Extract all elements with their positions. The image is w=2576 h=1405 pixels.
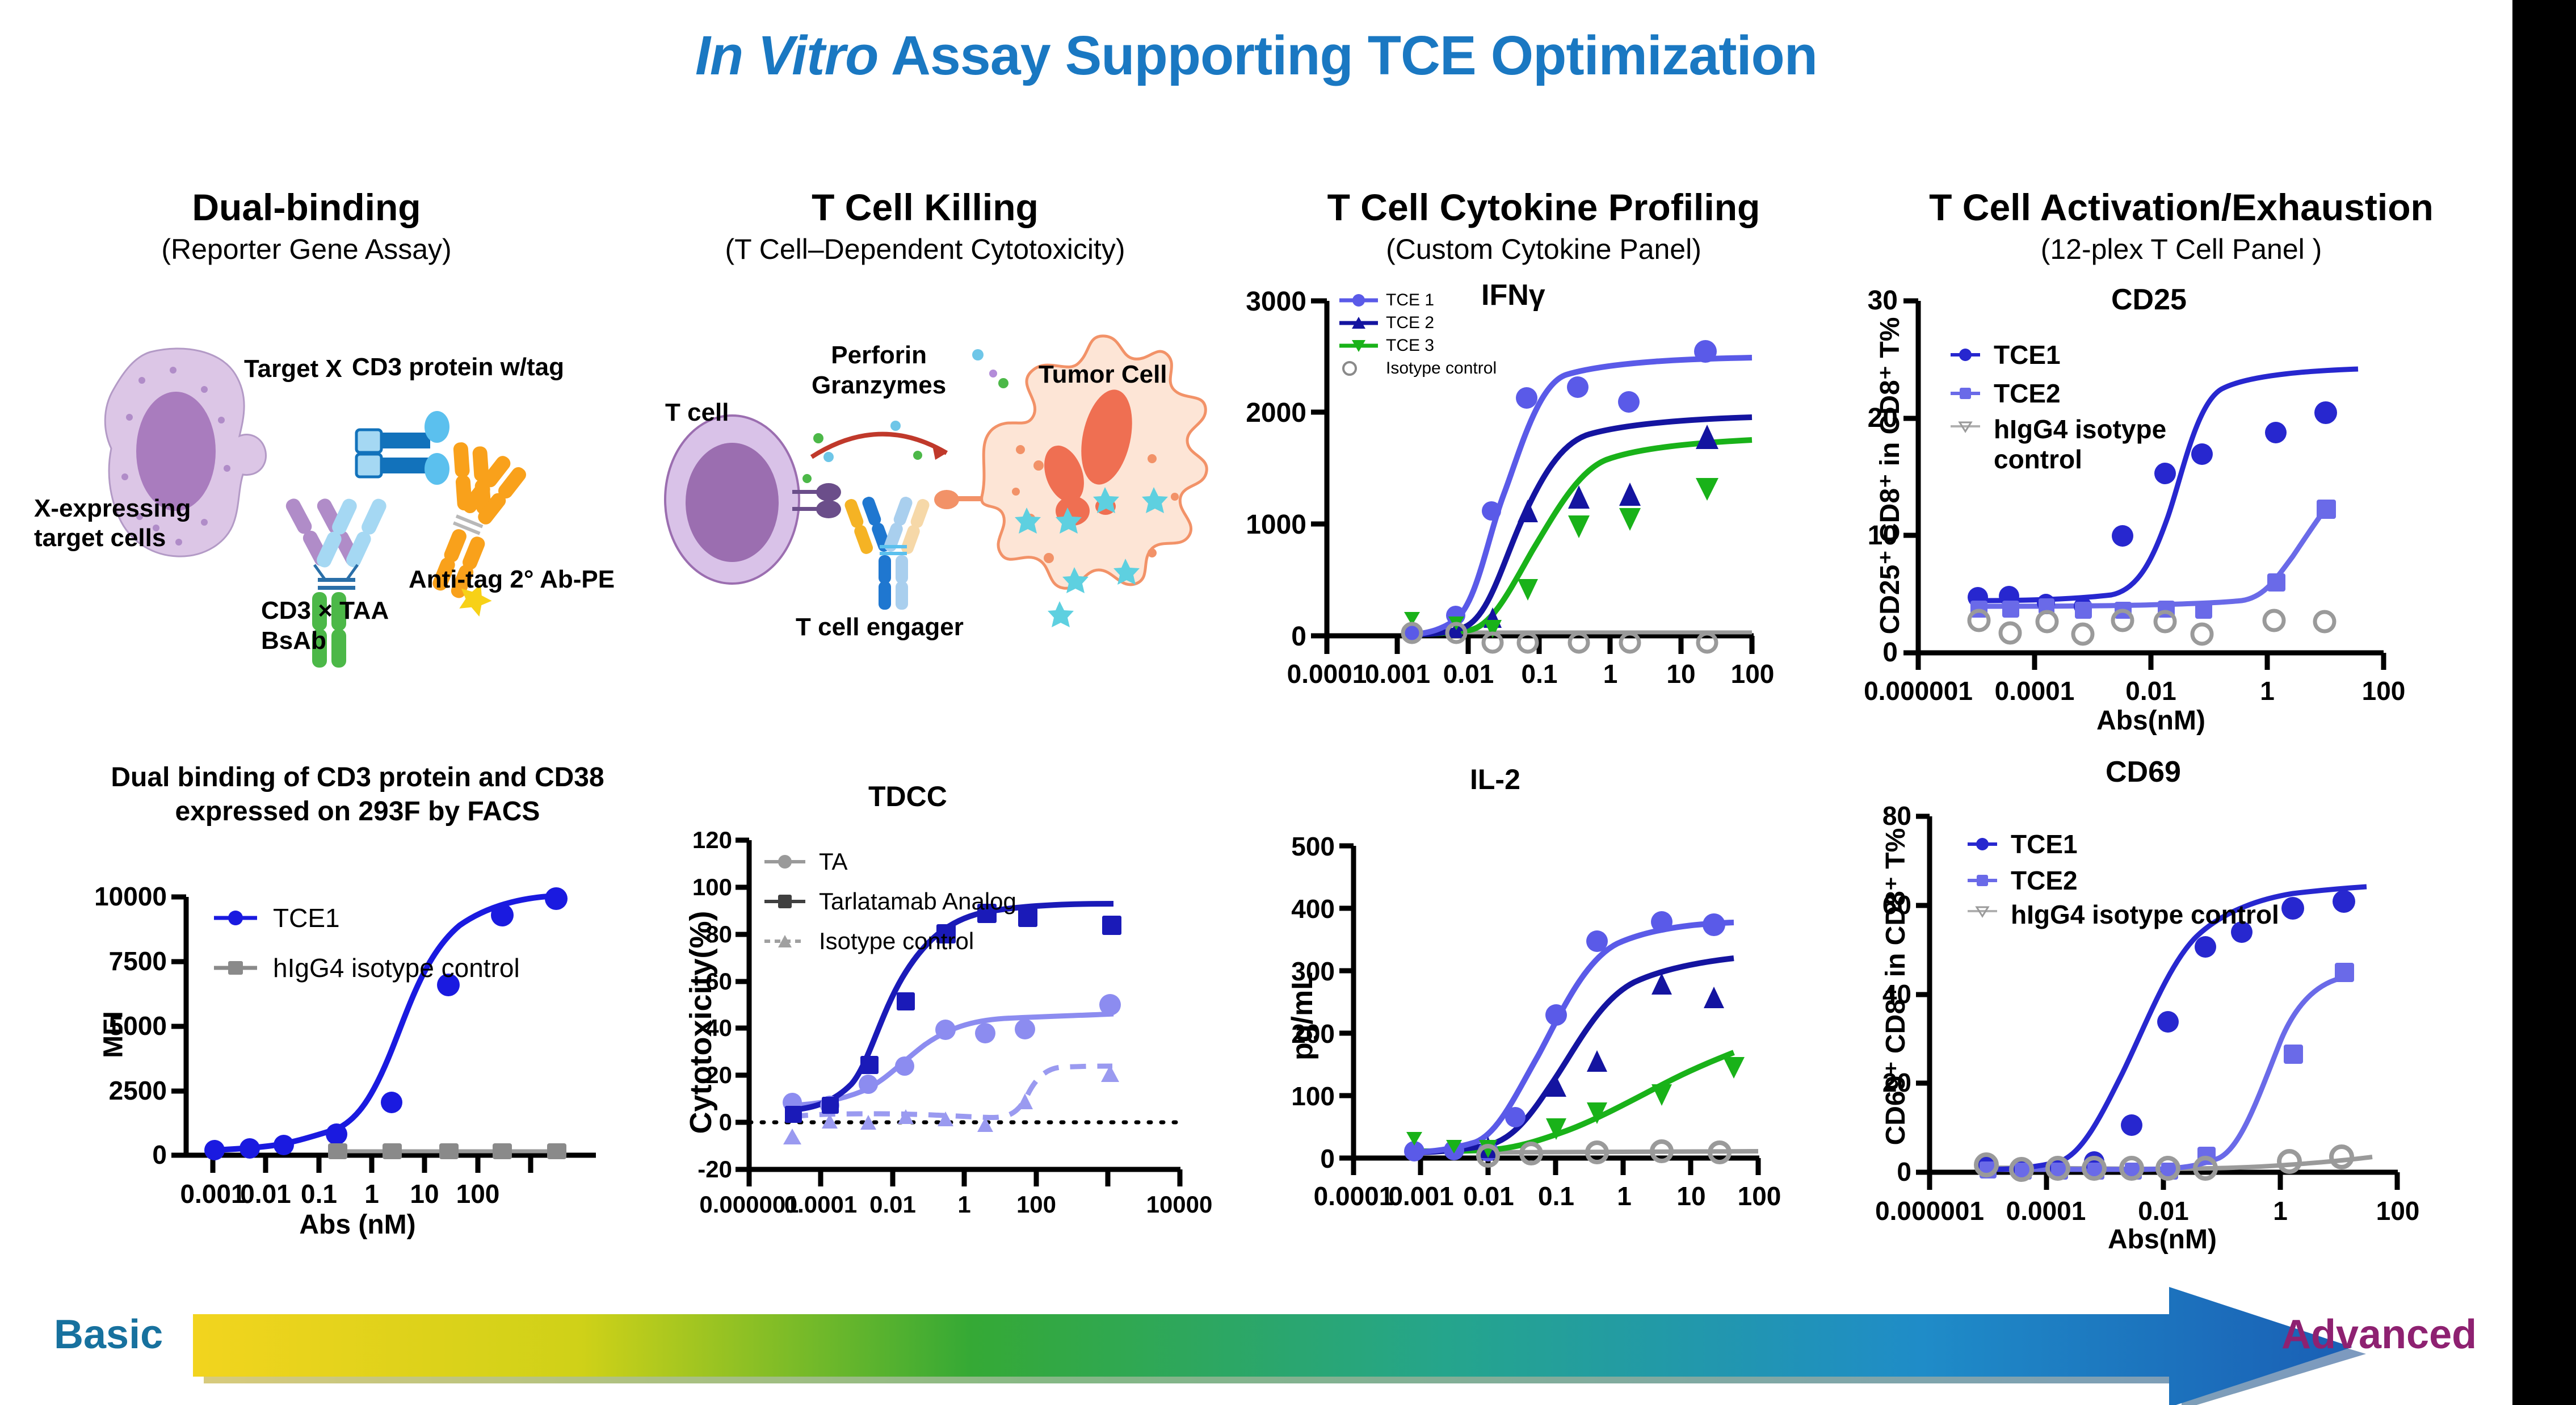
- xtick-label: 10: [1658, 1181, 1724, 1211]
- legend-marker-circle: [213, 909, 258, 927]
- ytick-label: 500: [1260, 831, 1335, 862]
- ytick-label: 40: [1839, 979, 1911, 1009]
- series-tce2-markers: [1448, 425, 1718, 638]
- legend-item: hIgG4 isotype control: [1966, 899, 2279, 930]
- legend-label: TCE2: [2011, 865, 2078, 896]
- ytick-label: 100: [1260, 1081, 1335, 1112]
- legend-label: Isotype control: [1386, 359, 1497, 378]
- legend-marker-triangle-down: [1338, 338, 1379, 354]
- legend-label: hIgG4 isotype control: [273, 953, 520, 983]
- column-heading-activation-exhaustion: T Cell Activation/Exhaustion (12-plex T …: [1850, 187, 2512, 265]
- ytick-label: 5000: [65, 1010, 167, 1041]
- chart-title-line2: expressed on 293F by FACS: [108, 795, 607, 829]
- page-title-rest: Assay Supporting TCE Optimization: [878, 24, 1817, 86]
- xtick-label: 100: [1720, 1181, 1799, 1211]
- ytick-label: 1000: [1243, 509, 1306, 540]
- legend-marker-open-triangle: [1949, 418, 1981, 435]
- legend-item: Tarlatamab Analog: [763, 888, 1016, 915]
- label-tumor-cell: Tumor Cell: [1039, 360, 1167, 389]
- tdcc-plot: [653, 778, 1243, 1226]
- xtick-label: 1: [939, 1191, 989, 1218]
- legend-item: TCE 2: [1338, 313, 1497, 333]
- xtick-label: 1: [1599, 1181, 1649, 1211]
- xtick-label: 0.0001: [1972, 676, 2097, 706]
- chart-cd25: CD25: [1844, 272, 2418, 710]
- chart-legend: TA Tarlatamab Analog Isotype control: [763, 848, 1016, 958]
- legend-marker-open-circle: [1338, 360, 1379, 376]
- xtick-label: 10000: [1123, 1191, 1236, 1218]
- series-isotype-markers: [1969, 611, 2334, 644]
- legend-marker-square: [763, 893, 806, 910]
- xtick-label: 1: [2255, 1196, 2306, 1226]
- column-heading-subtitle: (12-plex T Cell Panel ): [1850, 233, 2512, 265]
- chart-title: CD25: [2111, 283, 2187, 317]
- ytick-label: 10000: [65, 881, 167, 912]
- cd25-plot: [1844, 272, 2418, 710]
- y-axis-title: CD25⁺ CD8⁺ in CD8⁺ T%: [1874, 317, 1906, 635]
- page-title-italic: In Vitro: [695, 24, 879, 86]
- chart-mfi-dual-binding: Dual binding of CD3 protein and CD38 exp…: [85, 755, 653, 1226]
- legend-label: TCE 2: [1386, 313, 1434, 333]
- legend-marker-open-triangle: [1966, 903, 1998, 920]
- ytick-label: 0: [646, 1109, 732, 1136]
- ytick-label: 200: [1260, 1018, 1335, 1049]
- ytick-label: 100: [646, 874, 732, 901]
- x-axis-title: Abs(nM): [2071, 1224, 2253, 1255]
- xtick-label: 100: [2344, 676, 2423, 706]
- column-heading-title: T Cell Killing: [613, 187, 1237, 228]
- xtick-label: 0.01: [2103, 676, 2199, 706]
- chart-title: CD69: [2106, 755, 2181, 789]
- ytick-label: 20: [1834, 402, 1898, 434]
- column-heading-subtitle: (Custom Cytokine Panel): [1237, 233, 1850, 265]
- slide-canvas: In Vitro Assay Supporting TCE Optimizati…: [0, 0, 2576, 1405]
- series-tce2-markers: [1980, 963, 2354, 1180]
- xtick-label: 0.1: [1521, 1181, 1591, 1211]
- legend-marker-square: [1949, 385, 1981, 402]
- legend-item: TCE2: [1966, 865, 2279, 896]
- legend-label: TCE1: [1994, 339, 2061, 370]
- ytick-label: 80: [646, 921, 732, 948]
- x-axis-title: Abs(nM): [2060, 705, 2242, 736]
- xtick-label: 0.0001: [1984, 1196, 2108, 1226]
- xtick-label: 1: [346, 1178, 397, 1209]
- legend-marker-square: [1966, 872, 1998, 889]
- xtick-label: 10: [1650, 659, 1712, 689]
- column-heading-cytokine-profiling: T Cell Cytokine Profiling (Custom Cytoki…: [1237, 187, 1850, 265]
- label-bsab: CD3 × TAA BsAb: [261, 596, 389, 656]
- chart-legend: TCE1 TCE2 hIgG4 isotype control: [1949, 339, 2238, 478]
- series-tce1-markers: [1402, 340, 1717, 644]
- right-black-bar: [2512, 0, 2576, 1405]
- legend-item: TA: [763, 848, 1016, 875]
- il2-plot: [1266, 761, 1799, 1226]
- legend-marker-circle: [763, 853, 806, 870]
- t-cell-killing-schematic: T cell Perforin Granzymes Tumor Cell T c…: [641, 329, 1220, 659]
- label-perforin-granzymes: Perforin Granzymes: [812, 341, 946, 401]
- legend-item: TCE2: [1949, 378, 2238, 409]
- ytick-label: 2000: [1243, 397, 1306, 429]
- column-heading-title: Dual-binding: [0, 187, 613, 228]
- tumor-antigen: [934, 490, 959, 509]
- ytick-label: 60: [1839, 890, 1911, 920]
- column-heading-title: T Cell Cytokine Profiling: [1237, 187, 1850, 228]
- progression-arrow-svg: [0, 1291, 2512, 1405]
- y-axis-title: pg/mL: [1285, 925, 1319, 1107]
- page-title: In Vitro Assay Supporting TCE Optimizati…: [0, 24, 2512, 87]
- ytick-label: 10: [1834, 520, 1898, 551]
- legend-marker-triangle-dashed: [763, 933, 806, 950]
- dual-binding-schematic: X-expressing target cells Target X CD3 p…: [34, 341, 636, 659]
- ytick-label: 120: [646, 827, 732, 854]
- label-t-cell-engager: T cell engager: [796, 613, 964, 641]
- ytick-label: 20: [646, 1062, 732, 1089]
- ytick-label: 0: [1243, 621, 1306, 652]
- ytick-label: 30: [1834, 285, 1898, 316]
- x-axis-title: Abs (nM): [261, 1209, 454, 1240]
- label-x-expressing-target-cells: X-expressing target cells: [34, 494, 216, 553]
- legend-label: TCE2: [1994, 378, 2061, 409]
- legend-label: TA: [819, 848, 848, 875]
- xtick-label: 0.01: [2115, 1196, 2212, 1226]
- legend-item: Isotype control: [1338, 359, 1497, 378]
- cd3-protein-with-tag: [356, 411, 449, 485]
- legend-label: Tarlatamab Analog: [819, 888, 1016, 915]
- legend-label: hIgG4 isotype control: [2011, 899, 2279, 930]
- legend-label: Isotype control: [819, 928, 974, 955]
- legend-label: TCE 3: [1386, 336, 1434, 355]
- xtick-label: 100: [442, 1178, 514, 1209]
- xtick-label: 100: [2358, 1196, 2438, 1226]
- ytick-label: 40: [646, 1014, 732, 1042]
- ytick-label: 0: [1834, 637, 1898, 668]
- xtick-label: 1: [1583, 659, 1637, 689]
- series-tce1-markers: [1976, 890, 2355, 1180]
- legend-marker-triangle-up: [1338, 315, 1379, 331]
- label-t-cell: T cell: [665, 399, 729, 427]
- legend-item: TCE1: [1966, 829, 2279, 859]
- label-target-x: Target X: [244, 355, 342, 383]
- ytick-label: 0: [1839, 1156, 1911, 1187]
- xtick-label: 0.01: [1447, 1181, 1530, 1211]
- chart-tdcc: TDCC: [653, 778, 1243, 1226]
- ytick-label: 0: [65, 1139, 167, 1170]
- label-cd3-protein-wtag: CD3 protein w/tag: [352, 353, 564, 381]
- column-heading-t-cell-killing: T Cell Killing (T Cell–Dependent Cytotox…: [613, 187, 1237, 265]
- ytick-label: 20: [1839, 1067, 1911, 1098]
- column-heading-title: T Cell Activation/Exhaustion: [1850, 187, 2512, 228]
- legend-item: hIgG4 isotype control: [213, 953, 520, 983]
- t-cell-nucleus: [686, 443, 779, 562]
- footer-label-advanced: Advanced: [2281, 1311, 2477, 1358]
- chart-il2: IL-2: [1266, 761, 1799, 1226]
- legend-item: TCE1: [1949, 339, 2238, 370]
- column-heading-subtitle: (T Cell–Dependent Cytotoxicity): [613, 233, 1237, 265]
- chart-title: TDCC: [868, 780, 947, 813]
- chart-title: IL-2: [1470, 763, 1520, 796]
- footer-label-basic: Basic: [54, 1311, 163, 1358]
- ytick-label: 2500: [65, 1075, 167, 1106]
- column-heading-subtitle: (Reporter Gene Assay): [0, 233, 613, 265]
- legend-item: TCE1: [213, 903, 520, 933]
- t-cell-engager-antibody: [843, 495, 931, 610]
- legend-item: Isotype control: [763, 928, 1016, 955]
- target-cell-nucleus: [136, 392, 216, 511]
- progression-arrow: [0, 1291, 2512, 1405]
- ytick-label: 300: [1260, 956, 1335, 987]
- chart-title: Dual binding of CD3 protein and CD38 exp…: [108, 761, 607, 829]
- xtick-label: 0.01: [1424, 659, 1512, 689]
- ytick-label: 400: [1260, 894, 1335, 924]
- legend-marker-square: [213, 959, 258, 977]
- ytick-label: -20: [646, 1156, 732, 1183]
- chart-title-line1: Dual binding of CD3 protein and CD38: [108, 761, 607, 795]
- legend-label: TCE1: [273, 903, 340, 933]
- legend-marker-circle: [1966, 836, 1998, 853]
- column-heading-dual-binding: Dual-binding (Reporter Gene Assay): [0, 187, 613, 265]
- ytick-label: 3000: [1243, 286, 1306, 317]
- ytick-label: 60: [646, 968, 732, 995]
- legend-label: TCE1: [2011, 829, 2078, 859]
- legend-label: TCE 1: [1386, 291, 1434, 310]
- xtick-label: 0.01: [851, 1191, 934, 1218]
- legend-item: hIgG4 isotype control: [1949, 414, 2238, 475]
- chart-legend: TCE 1 TCE 2 TCE 3 Isotype: [1338, 291, 1497, 381]
- series-tce1-markers: [1404, 911, 1725, 1161]
- chart-legend: TCE1 hIgG4 isotype control: [213, 903, 520, 987]
- ytick-label: 7500: [65, 946, 167, 976]
- legend-item: TCE 1: [1338, 291, 1497, 310]
- label-anti-tag-secondary-ab-pe: Anti-tag 2° Ab-PE: [409, 565, 615, 594]
- xtick-label: 100: [998, 1191, 1075, 1218]
- cd3-tag-2: [425, 453, 449, 485]
- legend-marker-circle: [1949, 346, 1981, 363]
- legend-item: TCE 3: [1338, 336, 1497, 355]
- cd69-plot: [1844, 755, 2429, 1232]
- legend-label: hIgG4 isotype control: [1994, 414, 2238, 475]
- chart-cd69: CD69: [1844, 755, 2429, 1232]
- xtick-label: 0.1: [1501, 659, 1578, 689]
- chart-legend: TCE1 TCE2 hIgG4 isotype control: [1966, 829, 2279, 933]
- chart-ifng: IFNγ: [1266, 272, 1776, 693]
- cd3-tag: [425, 411, 449, 443]
- ytick-label: 80: [1839, 800, 1911, 831]
- xtick-label: 1: [2242, 676, 2293, 706]
- xtick-label: 100: [1713, 659, 1792, 689]
- arrow-shape: [193, 1287, 2352, 1405]
- ytick-label: 0: [1260, 1143, 1335, 1174]
- xtick-label: 0.1: [284, 1178, 354, 1209]
- legend-marker-circle: [1338, 292, 1379, 308]
